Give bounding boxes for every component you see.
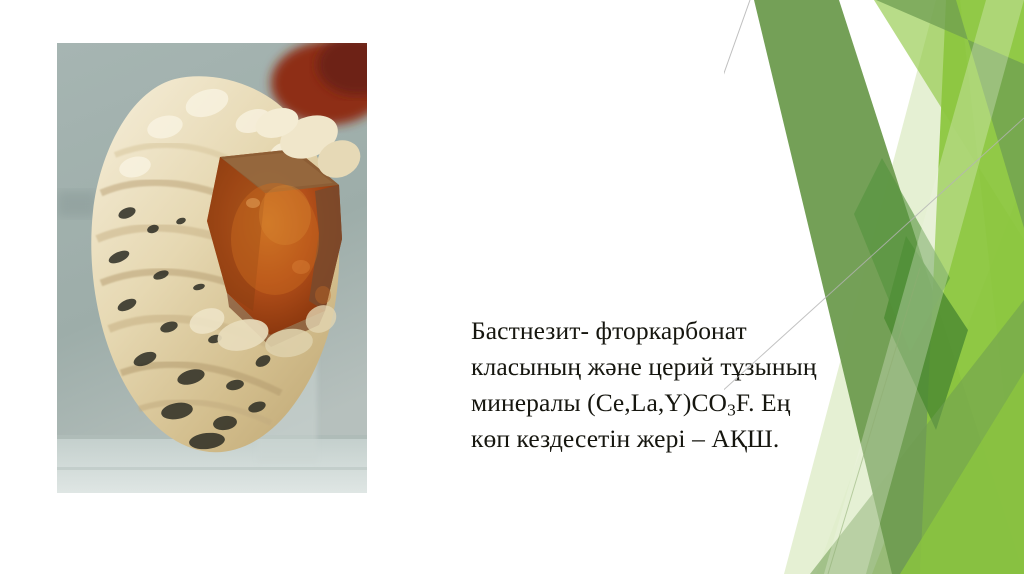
caption-line-2: класының және церий тұзының — [471, 349, 816, 385]
mineral-photo-graphic — [57, 43, 367, 493]
accent-line-steep — [724, 0, 750, 574]
accent-line-vertical — [828, 268, 920, 574]
slide-canvas: Бастнезит- фторкарбонат класының және це… — [0, 0, 1024, 574]
decorative-chevron-artwork — [724, 0, 1024, 574]
caption-line-3-text: минералы (Ce,La,Y)CO — [471, 388, 727, 417]
mineral-photo — [57, 43, 367, 493]
shape-pale-mid — [872, 180, 1024, 574]
chevron-graphic — [724, 0, 1024, 574]
shape-green-lower — [810, 300, 1024, 574]
shape-overlap-dark-2 — [854, 158, 950, 352]
shape-green-mid-left — [754, 0, 1024, 574]
stand-edge-2 — [57, 467, 367, 470]
shape-bright-right — [920, 0, 1024, 574]
shape-bright-bottom — [900, 372, 1024, 574]
background-band — [57, 191, 97, 217]
caption-line-3: минералы (Ce,La,Y)CO3F. Ең — [471, 385, 816, 421]
shape-overlap-dark — [884, 236, 968, 430]
shape-pale-lightest — [816, 0, 1024, 574]
shape-pale-left — [784, 0, 1024, 574]
caption-text: Бастнезит- фторкарбонат класының және це… — [471, 313, 816, 457]
shape-pale-sliver — [824, 0, 1024, 574]
caption-line-3-tail: F. Ең — [736, 388, 791, 417]
shape-overlap-upper — [876, 0, 1024, 228]
caption-line-2-text: класының және церий тұзының — [471, 352, 817, 381]
caption-line-4: көп кездесетін жері – АҚШ. — [471, 421, 816, 457]
formula-subscript: 3 — [727, 400, 736, 419]
caption-line-1-text: Бастнезит- фторкарбонат — [471, 316, 747, 345]
caption-line-1: Бастнезит- фторкарбонат — [471, 313, 816, 349]
shape-bright-rising — [874, 0, 1024, 574]
caption-line-4-text: көп кездесетін жері – АҚШ. — [471, 424, 779, 453]
